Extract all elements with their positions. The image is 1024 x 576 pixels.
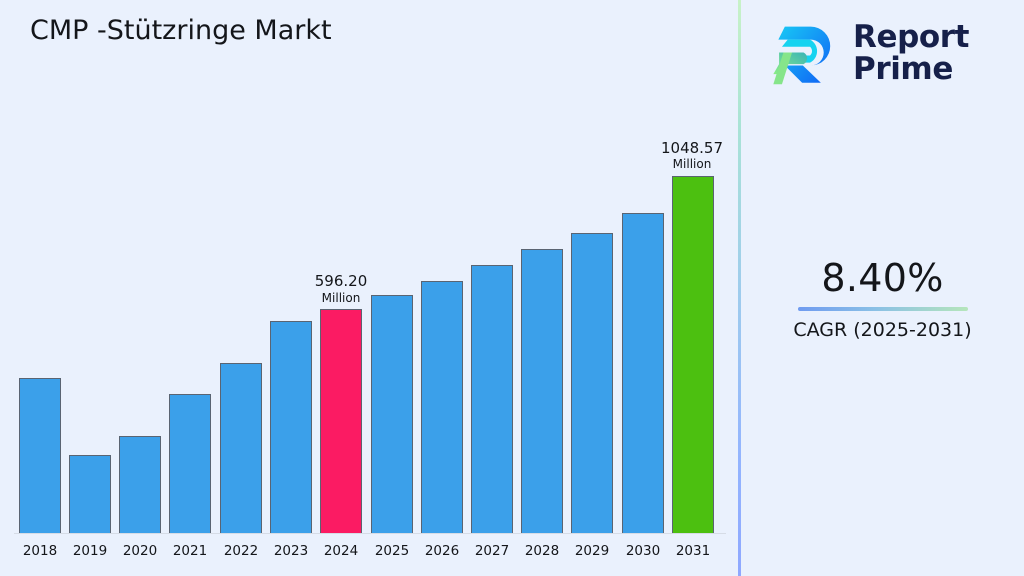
- bar-2026[interactable]: [421, 281, 463, 533]
- report-prime-logo-icon: [769, 18, 841, 90]
- bar-2029[interactable]: [571, 233, 613, 533]
- chart-panel: CMP -Stützringe Markt 1048.57 Million 59…: [0, 0, 738, 576]
- infographic-root: CMP -Stützringe Markt 1048.57 Million 59…: [0, 0, 1024, 576]
- bar-2020[interactable]: [119, 436, 161, 533]
- cagr-block: 8.40% CAGR (2025-2031): [741, 255, 1024, 343]
- brand-wordmark: Report Prime: [853, 22, 969, 85]
- cagr-value: 8.40%: [741, 255, 1024, 301]
- bar-2023[interactable]: [270, 321, 312, 533]
- bar-2021[interactable]: [169, 394, 211, 533]
- x-axis-line: [14, 533, 726, 534]
- cagr-divider-rule: [798, 307, 968, 311]
- bar-2022[interactable]: [220, 363, 262, 533]
- right-panel: Report Prime 8.40% CAGR (2025-2031): [741, 0, 1024, 576]
- brand-logo: Report Prime: [769, 12, 1009, 96]
- bar-2025[interactable]: [371, 295, 413, 533]
- brand-word-line1: Report: [853, 22, 969, 54]
- x-tick-2031: 2031: [663, 542, 723, 560]
- bar-2019[interactable]: [69, 455, 111, 533]
- bar-2031[interactable]: [672, 176, 714, 533]
- brand-word-line2: Prime: [853, 54, 969, 86]
- bar-value-label-2031: 1048.57: [642, 139, 742, 157]
- bar-chart-plot: 1048.57 Million 596.20 Million 2018 2019: [0, 0, 738, 576]
- bar-2028[interactable]: [521, 249, 563, 533]
- bar-2027[interactable]: [471, 265, 513, 533]
- bar-2030[interactable]: [622, 213, 664, 533]
- bar-2024[interactable]: [320, 309, 362, 533]
- cagr-caption: CAGR (2025-2031): [741, 317, 1024, 343]
- bar-unit-label-2031: Million: [642, 157, 742, 172]
- bar-value-label-2024: 596.20: [291, 272, 391, 290]
- bar-2018[interactable]: [19, 378, 61, 533]
